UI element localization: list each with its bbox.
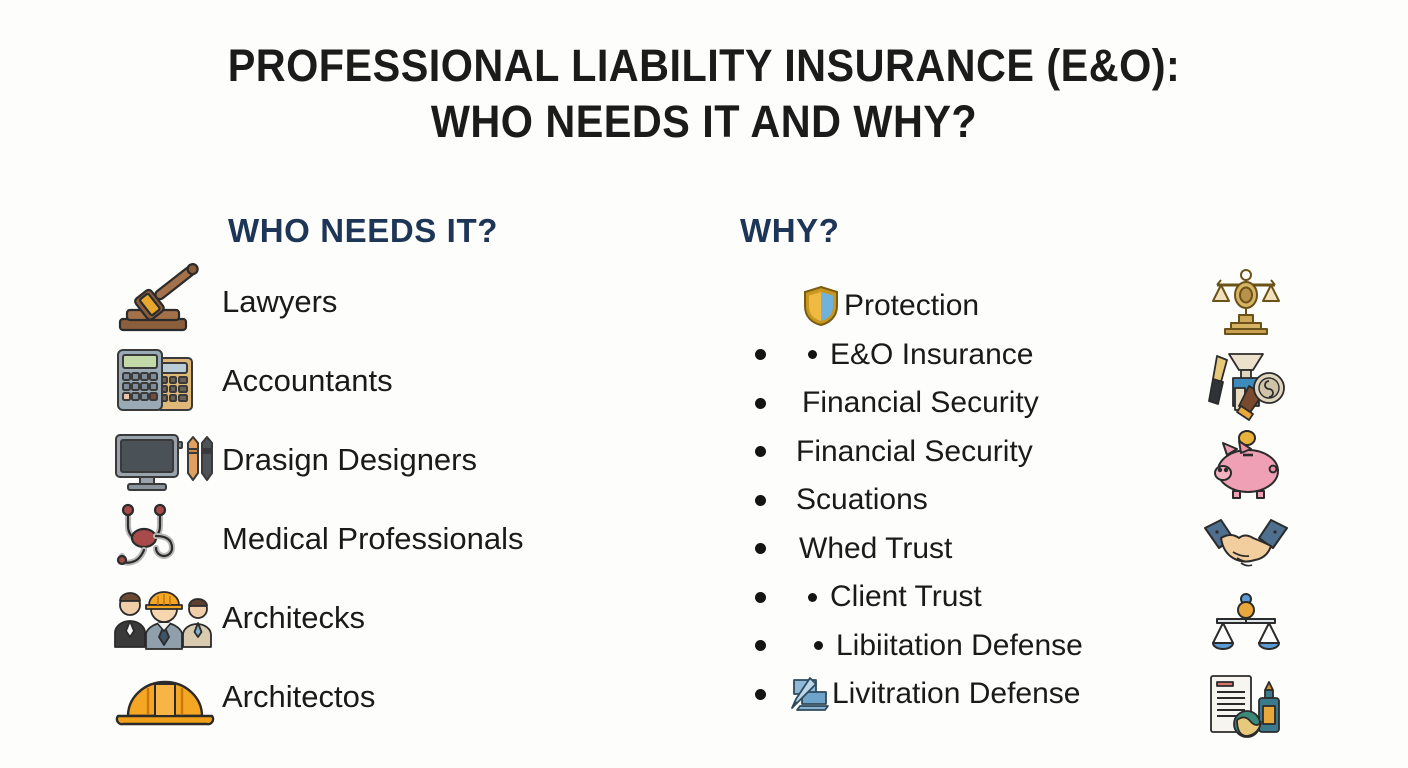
list-item: E&O Insurance — [755, 331, 1175, 380]
who-needs-it-heading: WHO NEEDS IT? — [228, 212, 498, 250]
infographic-canvas: PROFESSIONAL LIABILITY INSURANCE (E&O): … — [0, 0, 1408, 768]
monitor-pencils-icon — [110, 423, 220, 497]
piggy-bank-icon — [1196, 424, 1296, 505]
calculators-icon — [110, 344, 220, 418]
gavel-icon — [110, 265, 220, 339]
list-item: Architectos — [110, 657, 670, 736]
list-item: Protection — [755, 282, 1175, 331]
list-item-label: Protection — [844, 289, 979, 323]
stethoscope-icon — [110, 502, 220, 576]
bullet-dot — [755, 592, 766, 603]
list-item: Whed Trust — [755, 525, 1175, 574]
list-item-label: Lawyers — [222, 284, 337, 320]
why-list: Protection E&O Insurance Financial Secur… — [755, 282, 1175, 719]
list-item-label: Financial Security — [802, 386, 1039, 420]
list-item-label: Libiitation Defense — [836, 629, 1083, 663]
list-item-label: Architectos — [222, 679, 375, 715]
sub-bullet-dot — [808, 593, 817, 602]
list-item-label: Accountants — [222, 363, 393, 399]
list-item: Client Trust — [755, 573, 1175, 622]
page-title: PROFESSIONAL LIABILITY INSURANCE (E&O): … — [0, 38, 1408, 150]
list-item-label: Architecks — [222, 600, 365, 636]
list-item-label: Financial Security — [796, 435, 1033, 469]
sub-bullet-dot — [808, 350, 817, 359]
who-needs-it-list: Lawyers — [110, 262, 670, 736]
tools-coin-icon — [1196, 343, 1296, 424]
list-item-label: E&O Insurance — [830, 338, 1033, 372]
list-item: Scuations — [755, 476, 1175, 525]
title-line-2: WHO NEEDS IT AND WHY? — [56, 94, 1351, 150]
list-item-label: Scuations — [796, 483, 928, 517]
bullet-dot — [755, 640, 766, 651]
list-item: Drasign Designers — [110, 420, 670, 499]
balance-scale-blue-icon — [1196, 586, 1296, 667]
list-item: Financial Security — [755, 428, 1175, 477]
bullet-dot — [755, 495, 766, 506]
list-item-label: Client Trust — [830, 580, 982, 614]
title-line-1: PROFESSIONAL LIABILITY INSURANCE (E&O): — [56, 38, 1351, 94]
bullet-dot — [755, 543, 766, 554]
list-item-label: Whed Trust — [799, 532, 952, 566]
document-bottle-icon — [1196, 667, 1296, 748]
list-item: Financial Security — [755, 379, 1175, 428]
hard-hat-icon — [110, 660, 220, 734]
bullet-dot — [755, 446, 766, 457]
people-group-hardhat-icon — [110, 581, 220, 655]
list-item-label: Medical Professionals — [222, 521, 524, 557]
bullet-dot — [755, 349, 766, 360]
decorative-icon-strip — [1196, 262, 1296, 748]
scales-of-justice-gold-icon — [1196, 262, 1296, 343]
list-item: Architecks — [110, 578, 670, 657]
list-item: Lawyers — [110, 262, 670, 341]
bullet-dot — [755, 398, 766, 409]
list-item: Livitration Defense — [755, 670, 1175, 719]
shield-icon — [802, 285, 840, 327]
why-heading: WHY? — [740, 212, 840, 250]
list-item-label: Drasign Designers — [222, 442, 477, 478]
list-item: Accountants — [110, 341, 670, 420]
list-item: Libiitation Defense — [755, 622, 1175, 671]
handshake-icon — [1196, 505, 1296, 586]
list-item: Medical Professionals — [110, 499, 670, 578]
bullet-dot — [755, 689, 766, 700]
list-item-label: Livitration Defense — [832, 677, 1080, 711]
sub-bullet-dot — [814, 641, 823, 650]
laptop-pen-icon — [788, 676, 828, 712]
